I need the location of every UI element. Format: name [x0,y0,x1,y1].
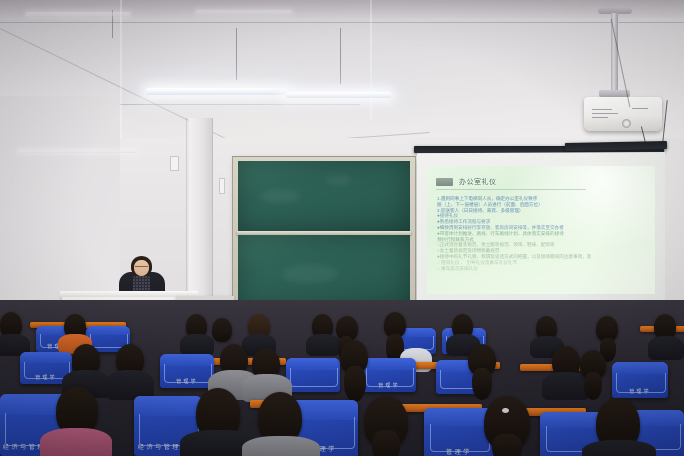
audience-shoulders [582,440,656,456]
projector-body [584,97,662,131]
slide-line: ○正式场合着装规范，男士服装规范、领带、鞋袜、配饰等 [437,242,647,247]
ceiling-light-front [146,88,286,95]
slide-line: ●接待中的礼节礼貌、称谓及谈话方式的把握，以及接待期间的注意事项，及 [437,254,647,259]
audience-shoulders [180,334,214,356]
lecturer-face [134,260,149,276]
audience-ponytail [584,372,602,400]
ceiling-joint-b [370,0,372,120]
ceiling-light-rear-2 [196,10,292,14]
seat-label: 管理学 [424,447,494,456]
slide-title-rule [436,189,586,190]
chalkboard-frame [232,156,416,318]
projector-vent-3 [592,117,608,118]
slide-line: 随（上、下一层楼层）人员进行（前面、后面方位） [437,202,647,207]
chalk-smudge-c [282,265,338,283]
structural-column [188,118,213,318]
lecturer-glasses [135,266,148,267]
seat-piping [290,368,337,387]
slide-line: ○ 陪同礼仪 、 引导礼仪及乘车礼仪礼节 [437,260,647,265]
audience-ponytail [472,368,492,400]
audience-ponytail [492,434,522,456]
column-edge-2 [212,118,213,318]
audience-ponytail [344,366,366,402]
ceiling-light-front-2 [286,92,391,98]
slide-line: 1.遇到同事上下电梯同人员，确定办公室礼仪秩序 [437,196,647,201]
wall-light-strip [18,150,138,153]
projection-screen: 办公室礼仪 1.遇到同事上下电梯同人员，确定办公室礼仪秩序 随（上、下一层楼层）… [417,152,665,310]
projector-lens [622,119,631,128]
slide-line: ●细致周到安排好行李存放、客房房间安排等，并落实至交办者 [437,225,647,230]
slide-line: ●熟悉接待工作流程与要求 [437,219,647,224]
chalkboard-panel-lower [238,235,410,309]
projected-slide: 办公室礼仪 1.遇到同事上下电梯同人员，确定办公室礼仪秩序 随（上、下一层楼层）… [427,166,655,294]
projector-vent-1 [592,109,612,110]
slide-body: 1.遇到同事上下电梯同人员，确定办公室礼仪秩序 随（上、下一层楼层）人员进行（前… [437,196,647,271]
slide-title-chip [436,178,453,186]
projector-vent-4 [632,108,648,109]
slide-line: 预约行程联系方式 [437,237,647,242]
ceiling-light-rear [26,12,130,16]
wall-fitting-a [170,156,179,171]
audience-ponytail [372,430,400,456]
ceiling-joint-a [120,0,122,150]
lamp-rod-1 [236,28,237,80]
projector-vent-2 [592,113,618,114]
column-edge [186,118,187,318]
audience-area: 管理学 [0,300,684,456]
audience-shoulders [306,334,340,356]
slide-line: ●接待礼仪 [437,213,647,218]
audience-head [212,318,232,342]
seat-label: 管理学 [362,382,416,389]
seat-label: 管理学 [612,388,668,395]
slide-line: ○ 乘车座次安排礼仪 [437,266,647,271]
wall-fitting-b [219,178,225,194]
audience-shoulders [40,428,112,456]
hair-clip [502,408,509,413]
slide-line: ●带客体计划推进、路线、行车路线计划、具体落实安排的接待 [437,231,647,236]
lamp-rod-2 [340,28,341,84]
chalk-smudge-b [326,175,352,185]
slide-title: 办公室礼仪 [459,177,497,187]
audience-shoulders [242,436,320,456]
audience-shoulders [648,336,684,360]
seat-label: 管理学 [160,378,214,385]
slide-line: 2.迎送客人（日日接待、来宾、多级管理） [437,208,647,213]
ceiling-seam-1 [0,22,684,23]
slide-header: 办公室礼仪 [436,177,497,187]
chalk-smudge-a [260,189,300,203]
classroom-scene: 办公室礼仪 1.遇到同事上下电梯同人员，确定办公室礼仪秩序 随（上、下一层楼层）… [0,0,684,456]
chalkboard-panel-upper [238,161,410,231]
slide-line: ○女士着装规范及饰物佩戴规范 [437,248,647,253]
